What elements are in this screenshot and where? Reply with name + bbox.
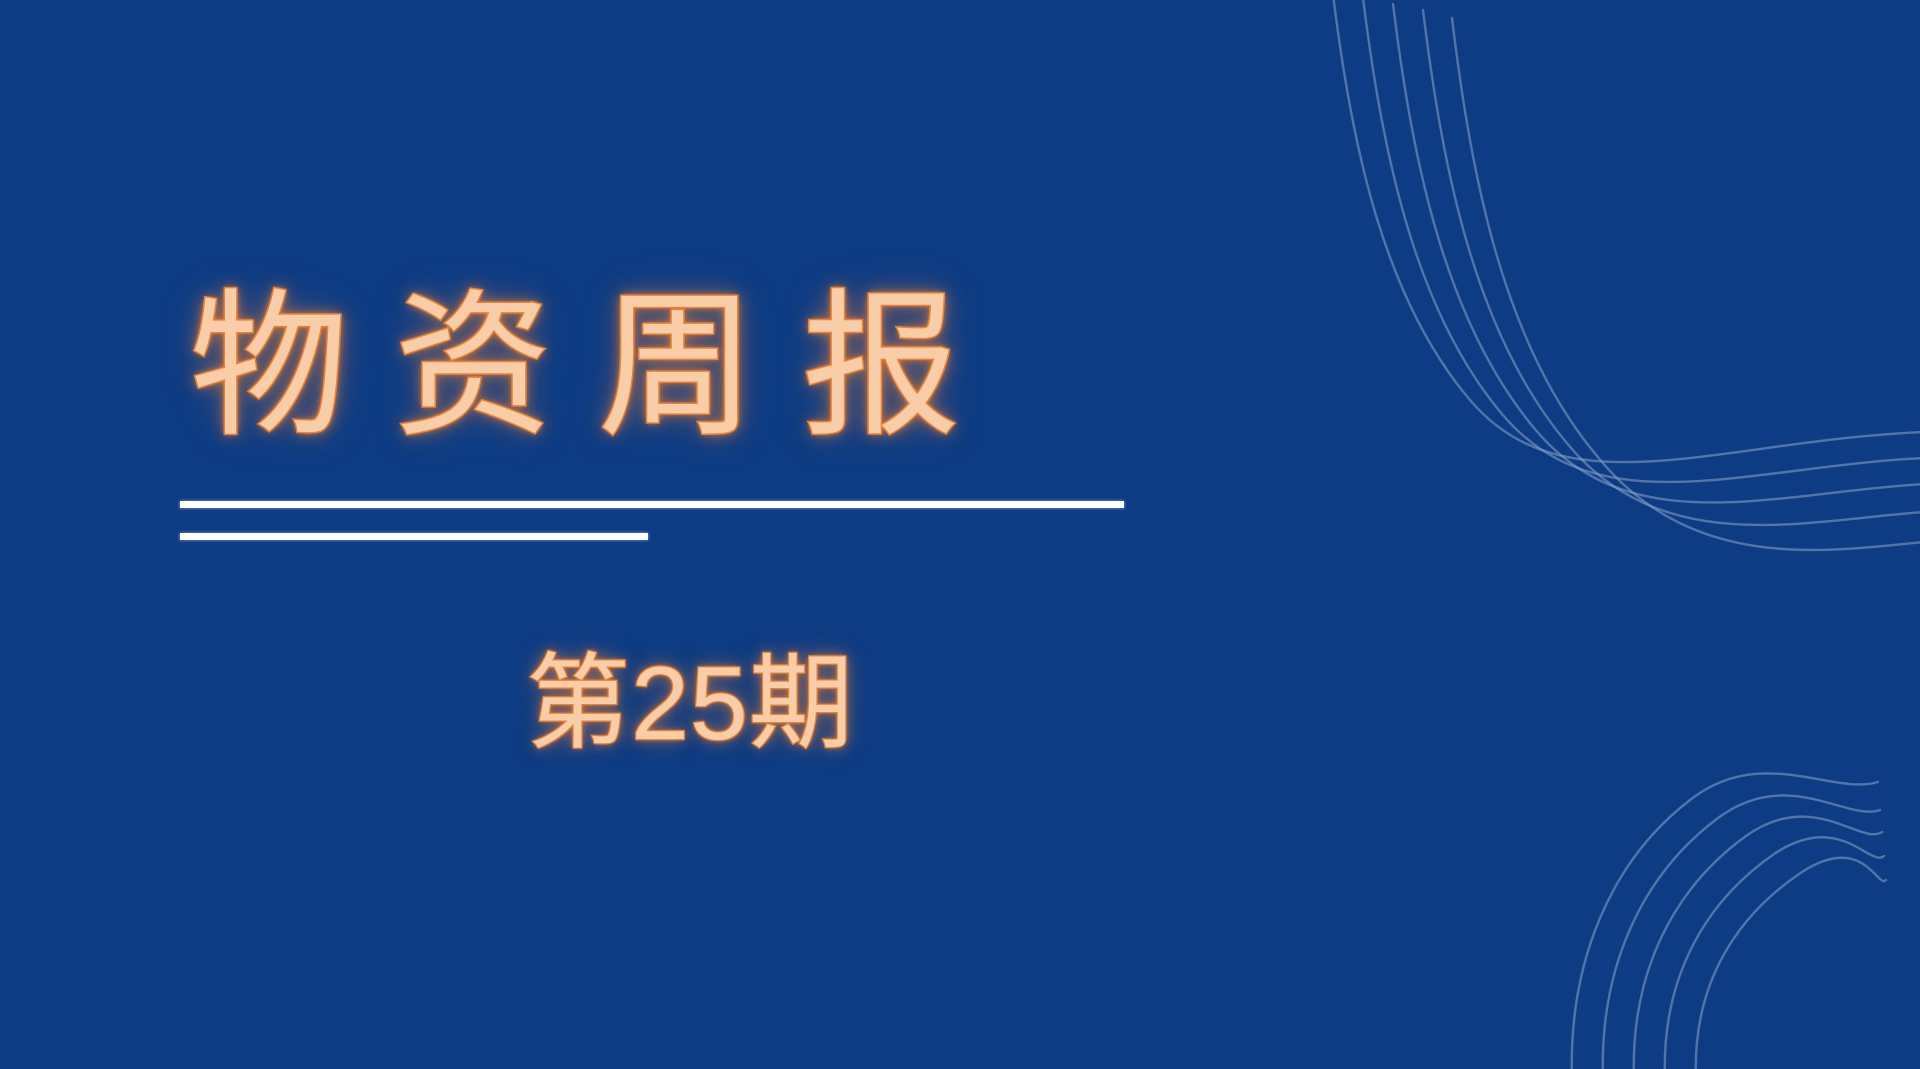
bottom-right-curve-1 [1572,773,1878,1069]
bottom-right-curve-4 [1665,837,1884,1069]
title-underline-short [180,533,648,540]
cover-slide: 物资周报 第25期 [0,0,1920,1069]
bottom-right-curve-5 [1696,858,1886,1069]
top-right-curve-5 [1452,18,1920,550]
bottom-right-curve-2 [1603,795,1880,1069]
top-right-curve-3 [1393,4,1920,503]
top-right-curve-4 [1423,10,1920,525]
issue-number: 第25期 [526,645,854,765]
title-underline-long [180,501,1124,508]
top-right-curve-2 [1363,0,1920,482]
bottom-right-curve-3 [1634,817,1882,1069]
top-right-curve-1 [1333,0,1920,462]
title-block: 物资周报 [190,282,1190,453]
page-title: 物资周报 [190,282,1190,453]
subtitle-block: 第25期 [190,645,1190,765]
